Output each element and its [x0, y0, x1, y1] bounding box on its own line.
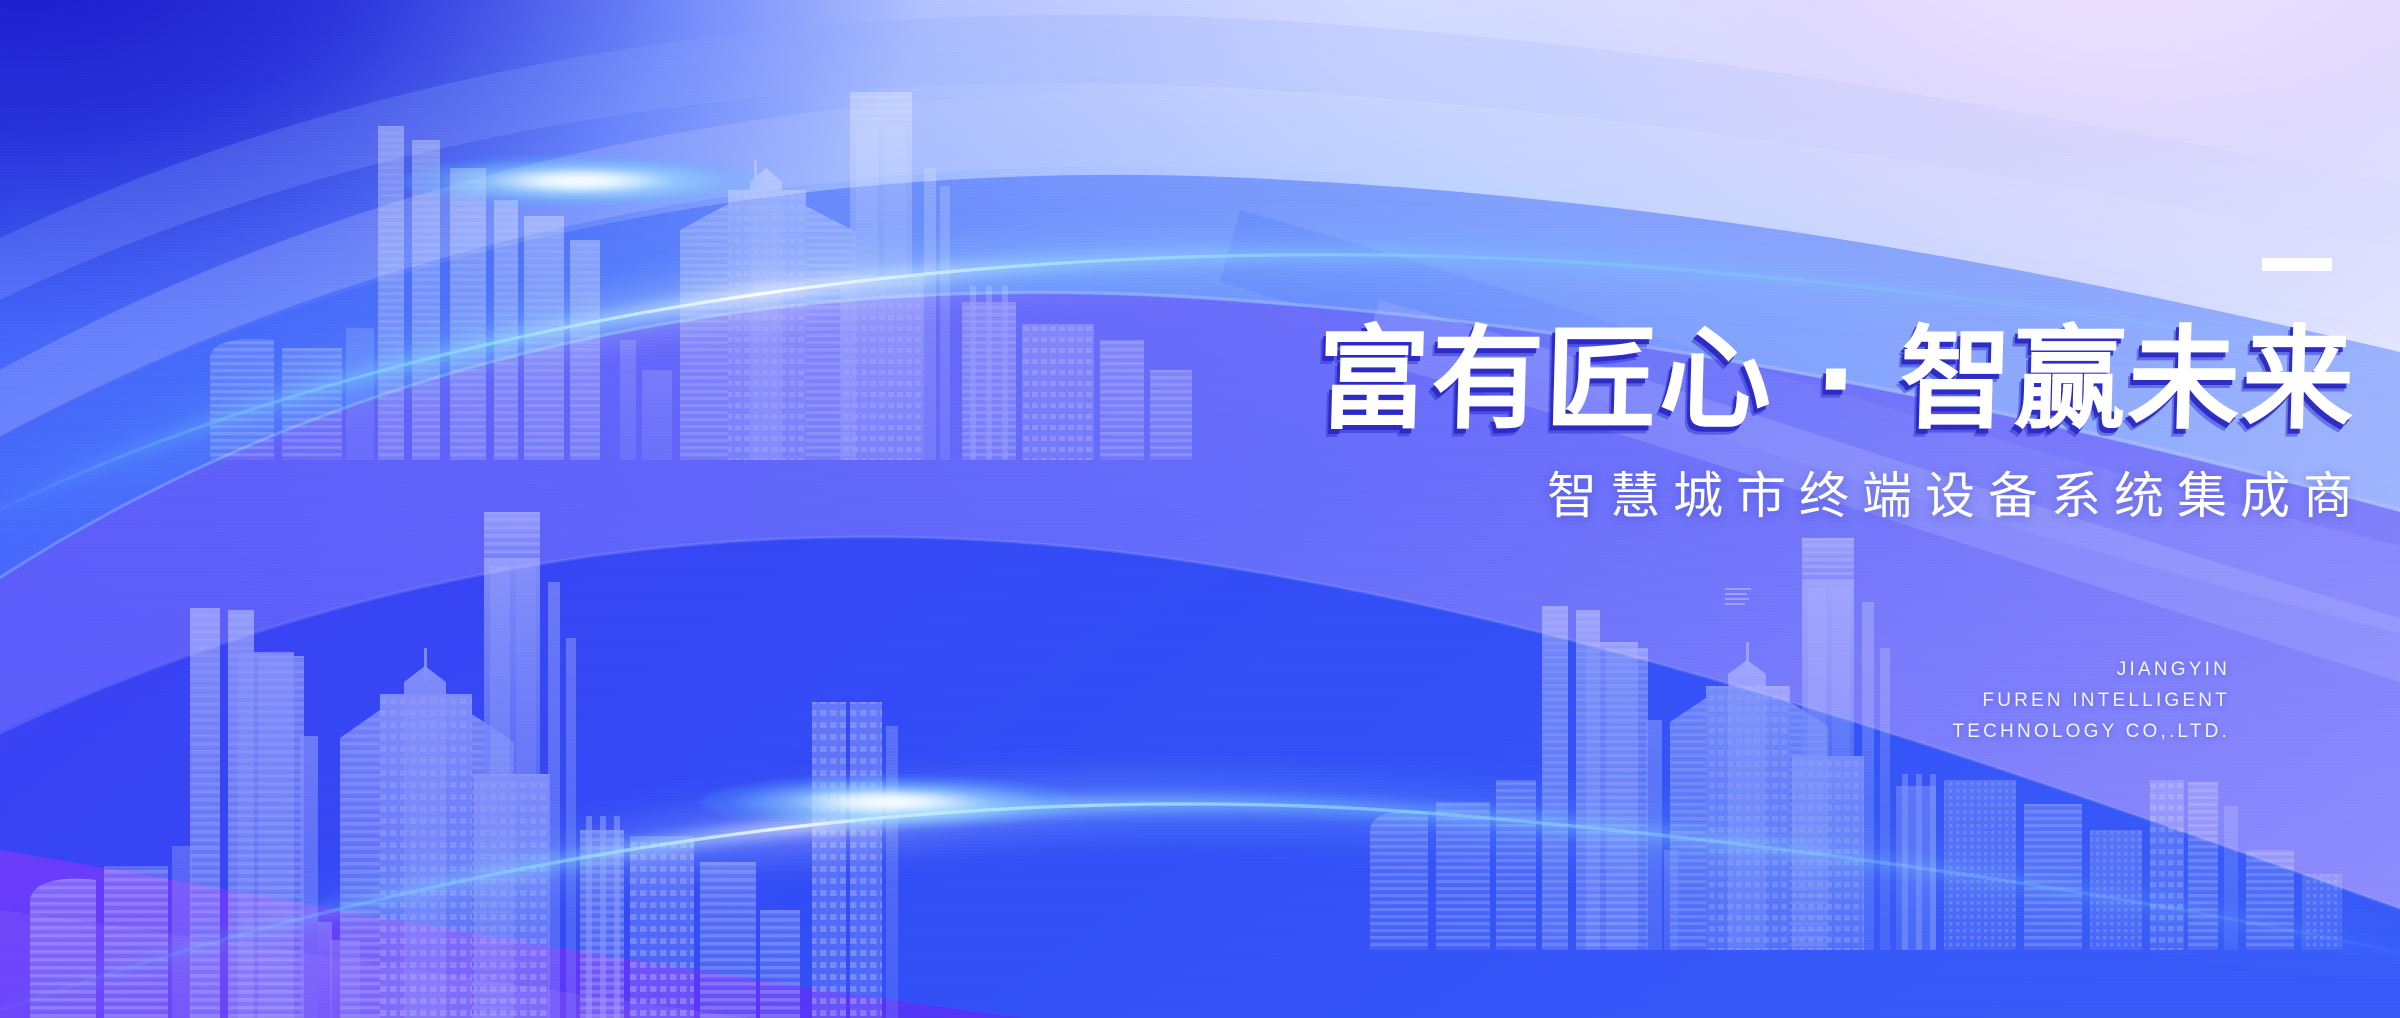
- page-title: 富有匠心 · 智赢未来: [1049, 324, 2358, 436]
- ghost-mark-icon: [1725, 588, 1751, 608]
- headline-block: 富有匠心 · 智赢未来 智慧城市终端设备系统集成商: [1050, 250, 2370, 526]
- company-name: JIANGYIN FUREN INTELLIGENT TECHNOLOGY CO…: [1952, 655, 2230, 747]
- company-name-line-2: FUREN INTELLIGENT: [1952, 686, 2230, 717]
- promotional-banner: 富有匠心 · 智赢未来 智慧城市终端设备系统集成商 JIANGYIN FUREN…: [0, 0, 2400, 1018]
- company-name-line-1: JIANGYIN: [1952, 655, 2230, 686]
- accent-dash-icon: [2262, 258, 2332, 271]
- glow-hotspot-upper: [400, 155, 760, 207]
- glow-hotspot-lower: [700, 775, 1080, 829]
- subtitle: 智慧城市终端设备系统集成商: [1050, 466, 2366, 526]
- accent-dash-wrapper: [1050, 250, 2350, 290]
- company-name-line-3: TECHNOLOGY CO,.LTD.: [1952, 717, 2230, 748]
